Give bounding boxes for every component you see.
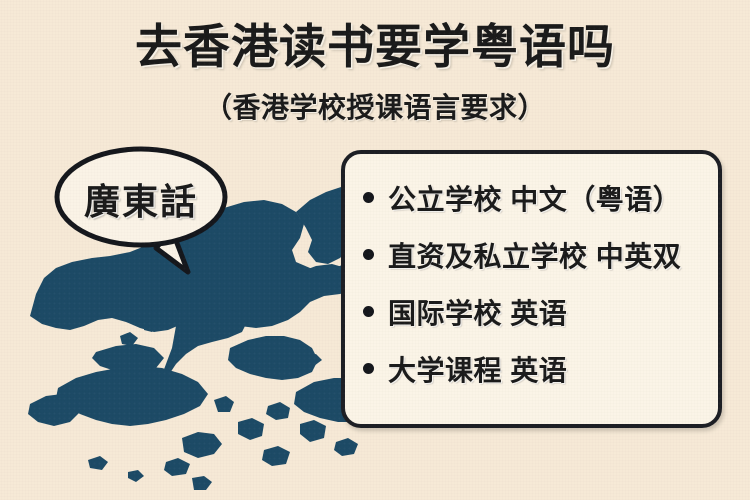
page-subtitle: （香港学校授课语言要求） [0, 86, 750, 126]
list-item: 大学课程 英语 [363, 349, 718, 406]
info-card: 公立学校 中文（粤语） 直资及私立学校 中英双 国际学校 英语 大学课程 英语 [341, 150, 722, 428]
poster-canvas: 去香港读书要学粤语吗 （香港学校授课语言要求） 廣東話 公立学校 中文（粤语） … [0, 0, 750, 500]
list-item-label: 大学课程 英语 [388, 349, 567, 389]
school-language-list: 公立学校 中文（粤语） 直资及私立学校 中英双 国际学校 英语 大学课程 英语 [363, 178, 718, 406]
list-item-label: 国际学校 英语 [388, 292, 567, 332]
bullet-dot-icon [363, 363, 374, 374]
bullet-dot-icon [363, 306, 374, 317]
list-item: 公立学校 中文（粤语） [363, 178, 718, 235]
list-item-label: 公立学校 中文（粤语） [388, 178, 681, 218]
speech-bubble: 廣東話 [52, 144, 242, 284]
bullet-dot-icon [363, 192, 374, 203]
list-item: 直资及私立学校 中英双 [363, 235, 718, 292]
list-item-label: 直资及私立学校 中英双 [388, 235, 681, 275]
list-item: 国际学校 英语 [363, 292, 718, 349]
bullet-dot-icon [363, 249, 374, 260]
page-title: 去香港读书要学粤语吗 [0, 22, 750, 73]
